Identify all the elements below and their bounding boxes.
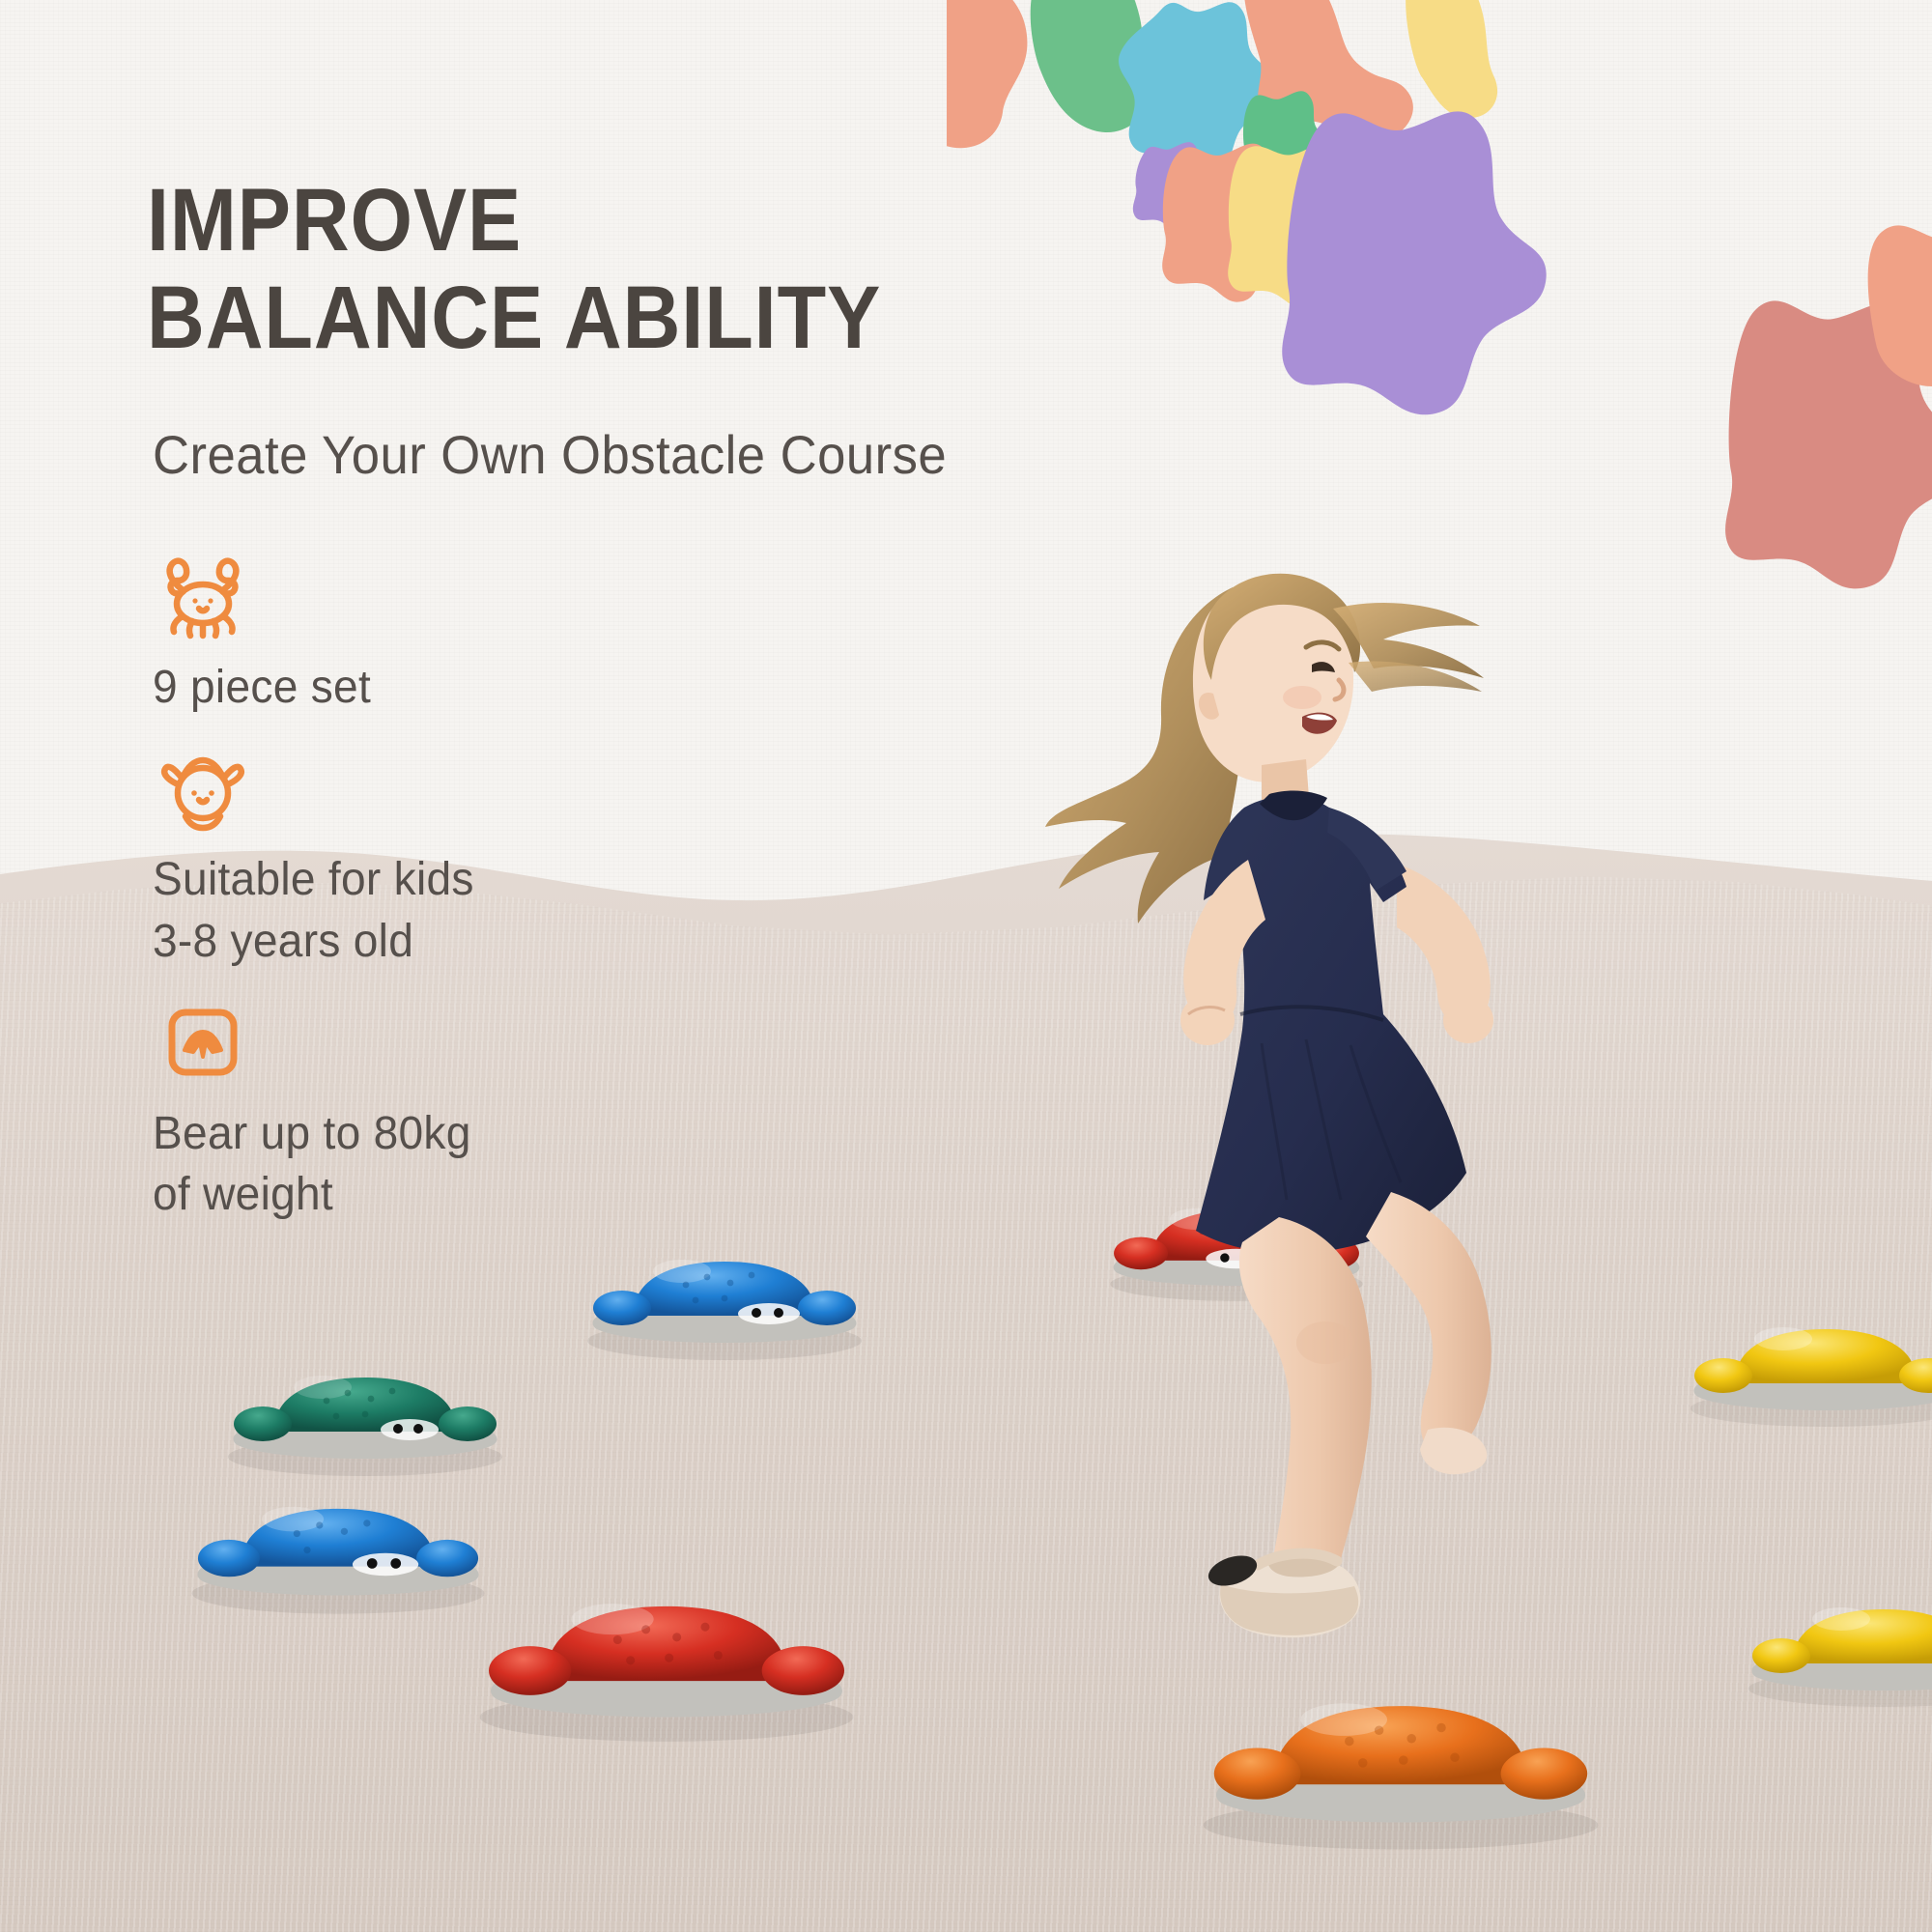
page-subtitle: Create Your Own Obstacle Course xyxy=(153,423,1151,486)
blob-yellow-topright xyxy=(1406,0,1497,118)
feature-list: 9 piece set Suitable for kids 3-8 years … xyxy=(153,551,752,1236)
crab-icon xyxy=(153,551,752,643)
feature-item-weight-capacity: Bear up to 80kg of weight xyxy=(153,997,752,1226)
stone-blue-upper xyxy=(580,1207,869,1362)
dress xyxy=(1196,796,1466,1254)
feature-text-piece-count: 9 piece set xyxy=(153,657,727,718)
stone-red-lower xyxy=(473,1536,860,1744)
shoe-front xyxy=(1205,1550,1360,1638)
leg-front xyxy=(1239,1217,1372,1573)
feature-item-piece-count: 9 piece set xyxy=(153,551,752,718)
leg-back xyxy=(1366,1192,1492,1454)
stone-blue-lower xyxy=(184,1449,493,1618)
feature-item-age-range: Suitable for kids 3-8 years old xyxy=(153,743,752,972)
blob-purple-large xyxy=(1282,111,1546,414)
fist-left xyxy=(1180,995,1235,1045)
weight-scale-icon xyxy=(153,997,752,1090)
marketing-banner: IMPROVE BALANCE ABILITY Create Your Own … xyxy=(0,0,1932,1932)
feature-text-age-range: Suitable for kids 3-8 years old xyxy=(153,849,727,972)
girl-face-icon xyxy=(153,743,752,836)
foot-back xyxy=(1420,1428,1487,1475)
stone-orange xyxy=(1198,1633,1604,1850)
page-title: IMPROVE BALANCE ABILITY xyxy=(147,172,1016,367)
blob-coral-topleft xyxy=(947,0,1027,148)
